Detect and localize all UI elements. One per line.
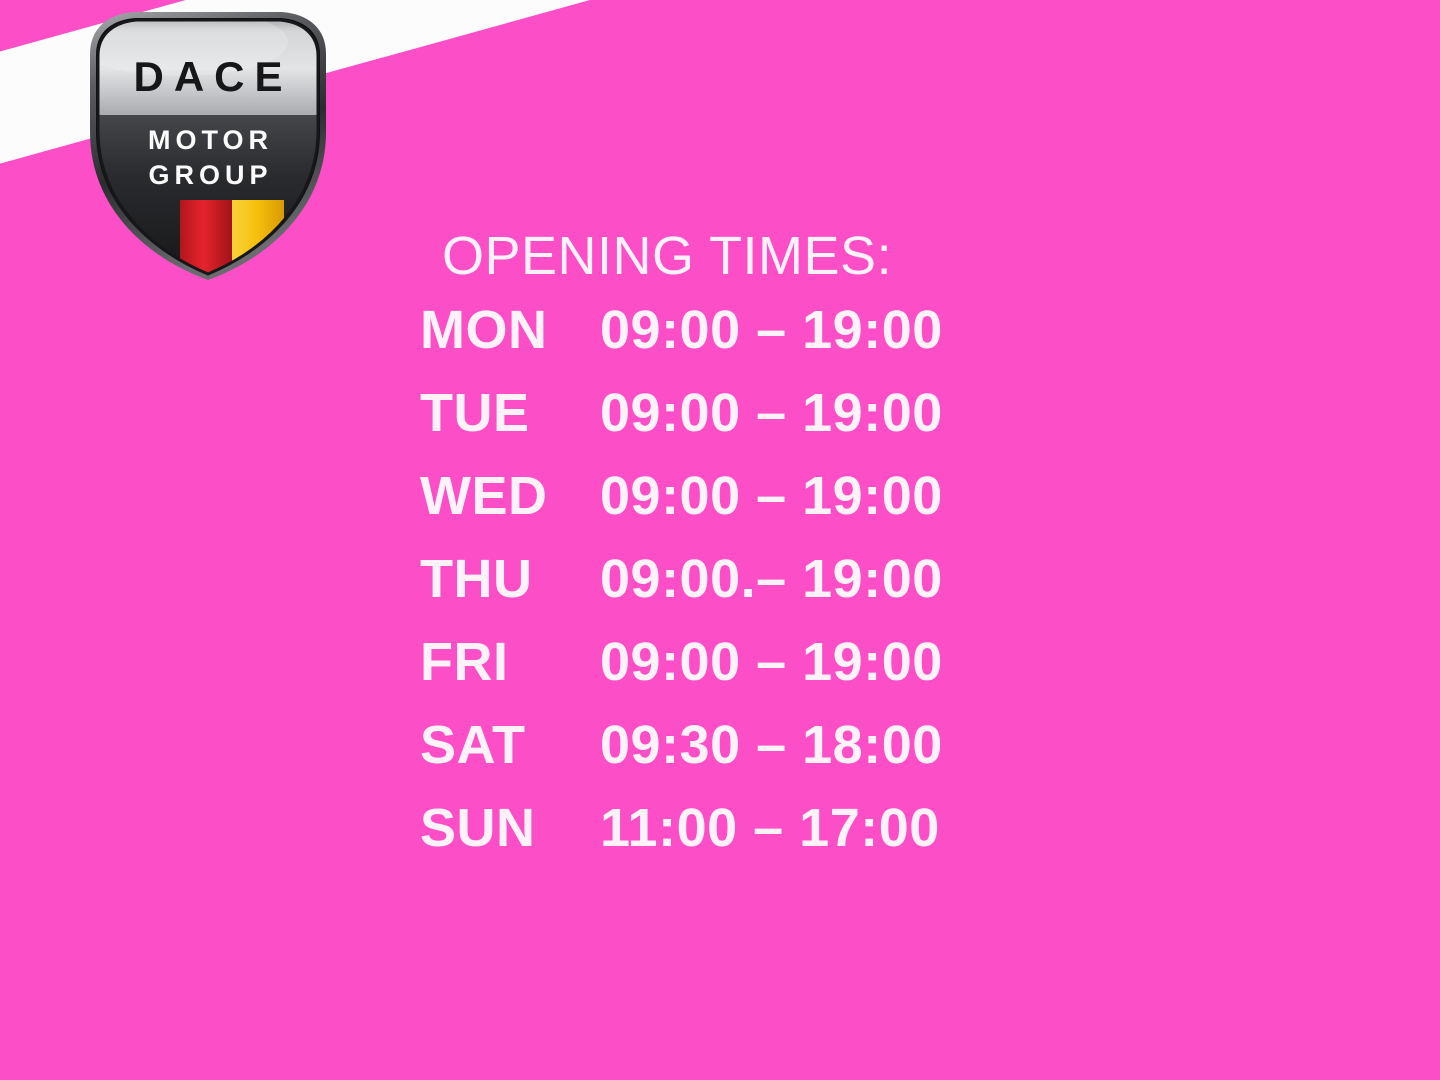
hours-row-sat: SAT 09:30 – 18:00 (420, 718, 1020, 801)
opening-times-heading: OPENING TIMES: (420, 228, 1020, 285)
opening-times-poster: DACE MOTOR GROUP OPENING TIMES: MON 09:0… (0, 0, 1440, 1080)
opening-times-block: OPENING TIMES: MON 09:00 – 19:00 TUE 09:… (420, 228, 1020, 884)
day-label-mon: MON (420, 303, 600, 357)
dace-motor-group-logo: DACE MOTOR GROUP (84, 12, 332, 280)
hours-row-sun: SUN 11:00 – 17:00 (420, 801, 1020, 884)
hours-row-tue: TUE 09:00 – 19:00 (420, 386, 1020, 469)
day-label-wed: WED (420, 469, 600, 523)
hours-row-thu: THU 09:00.– 19:00 (420, 552, 1020, 635)
opening-hours-list: MON 09:00 – 19:00 TUE 09:00 – 19:00 WED … (420, 303, 1020, 884)
day-hours-fri: 09:00 – 19:00 (600, 635, 1020, 689)
hours-row-mon: MON 09:00 – 19:00 (420, 303, 1020, 386)
day-label-sun: SUN (420, 801, 600, 855)
hours-row-wed: WED 09:00 – 19:00 (420, 469, 1020, 552)
day-hours-wed: 09:00 – 19:00 (600, 469, 1020, 523)
day-label-thu: THU (420, 552, 600, 606)
day-hours-mon: 09:00 – 19:00 (600, 303, 1020, 357)
day-label-sat: SAT (420, 718, 600, 772)
day-hours-thu: 09:00.– 19:00 (600, 552, 1020, 606)
day-label-tue: TUE (420, 386, 600, 440)
day-hours-sat: 09:30 – 18:00 (600, 718, 1020, 772)
hours-row-fri: FRI 09:00 – 19:00 (420, 635, 1020, 718)
day-hours-tue: 09:00 – 19:00 (600, 386, 1020, 440)
day-label-fri: FRI (420, 635, 600, 689)
day-hours-sun: 11:00 – 17:00 (600, 801, 1020, 855)
